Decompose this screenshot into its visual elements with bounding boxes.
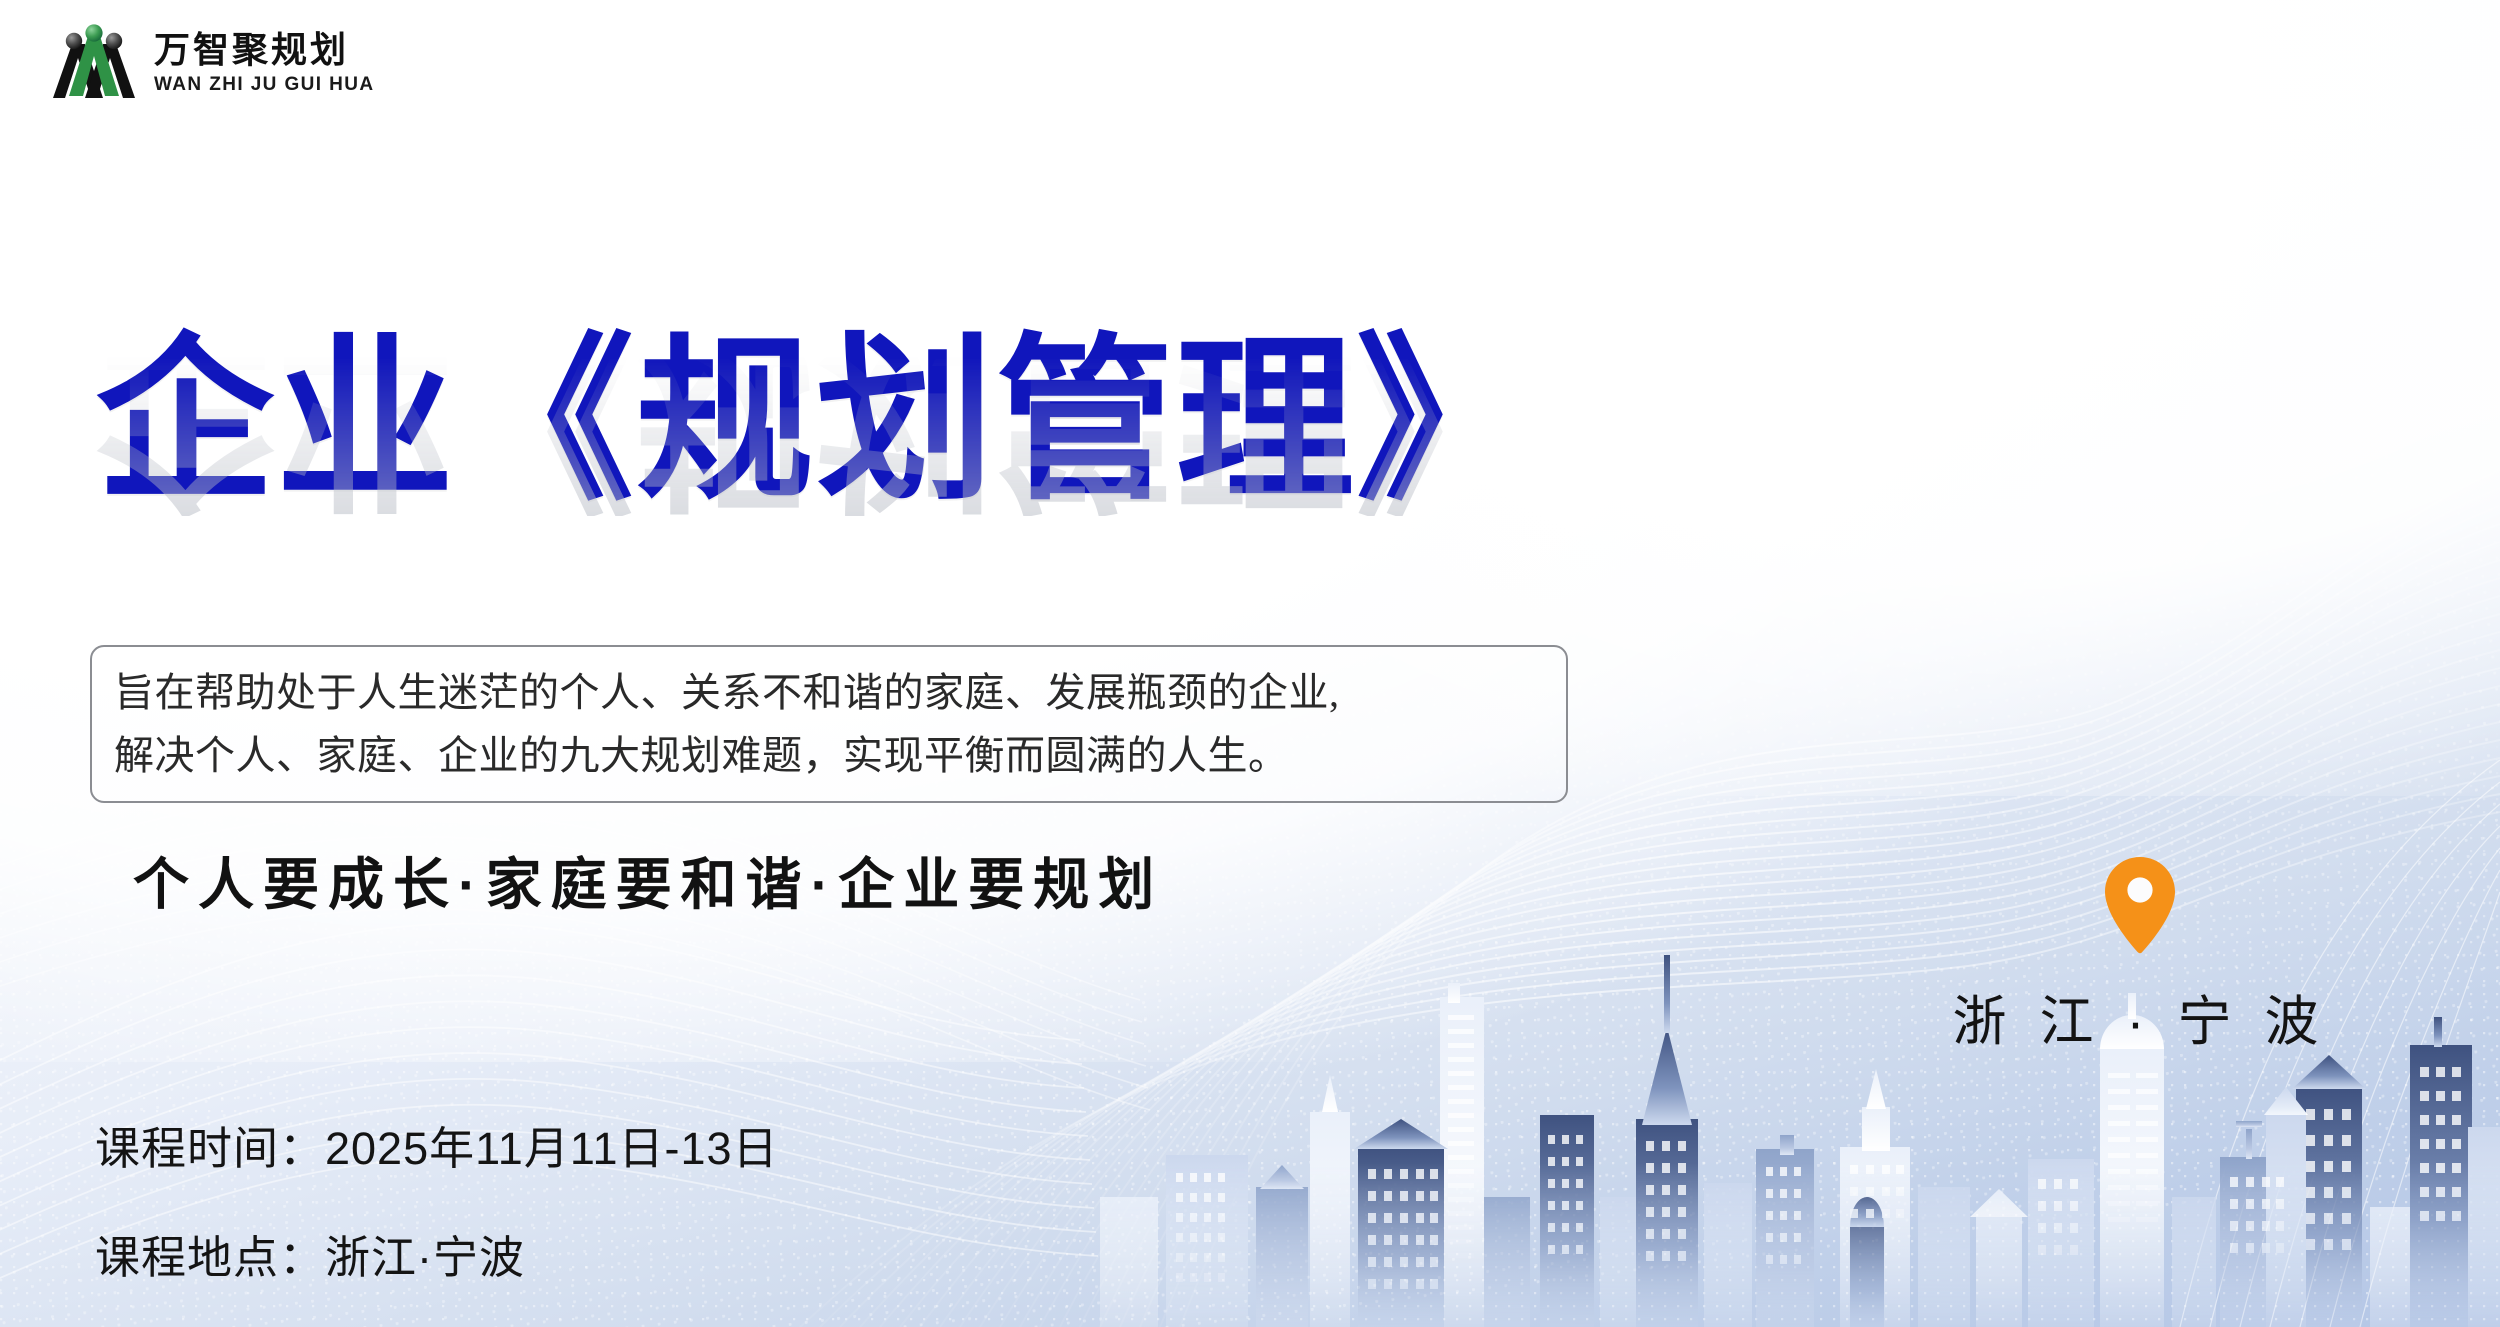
- three-people-mountain-logo-icon: [52, 22, 136, 104]
- map-pin-icon: [2101, 855, 2179, 955]
- poster-canvas: 万智聚规划 WAN ZHI JU GUI HUA 企业《规划管理》 企业《规划管…: [0, 0, 2500, 1327]
- brand-name-cn: 万智聚规划: [154, 32, 374, 68]
- brand-logo[interactable]: 万智聚规划 WAN ZHI JU GUI HUA: [52, 22, 374, 104]
- description-box: 旨在帮助处于人生迷茫的个人、关系不和谐的家庭、发展瓶颈的企业, 解决个人、家庭、…: [90, 645, 1568, 803]
- location-block: 浙 江 · 宁 波: [1950, 855, 2330, 1056]
- headline-block: 企业《规划管理》 企业《规划管理》: [96, 330, 1796, 697]
- tagline: 个人要成长·家庭要和谐·企业要规划: [133, 840, 1163, 921]
- course-place-row: 课程地点：浙江·宁波: [95, 1221, 779, 1286]
- course-info-block: 课程时间：2025年11月11日-13日 课程地点：浙江·宁波: [95, 1112, 779, 1286]
- description-line-1: 旨在帮助处于人生迷茫的个人、关系不和谐的家庭、发展瓶颈的企业,: [114, 661, 1544, 724]
- brand-name-pinyin: WAN ZHI JU GUI HUA: [154, 75, 374, 94]
- description-line-2: 解决个人、家庭、企业的九大规划难题，实现平衡而圆满的人生。: [114, 724, 1544, 787]
- page-title: 企业《规划管理》: [96, 330, 1796, 512]
- location-label: 浙 江 · 宁 波: [1953, 977, 2328, 1056]
- course-time-row: 课程时间：2025年11月11日-13日: [95, 1112, 779, 1177]
- brand-name-block: 万智聚规划 WAN ZHI JU GUI HUA: [154, 32, 374, 94]
